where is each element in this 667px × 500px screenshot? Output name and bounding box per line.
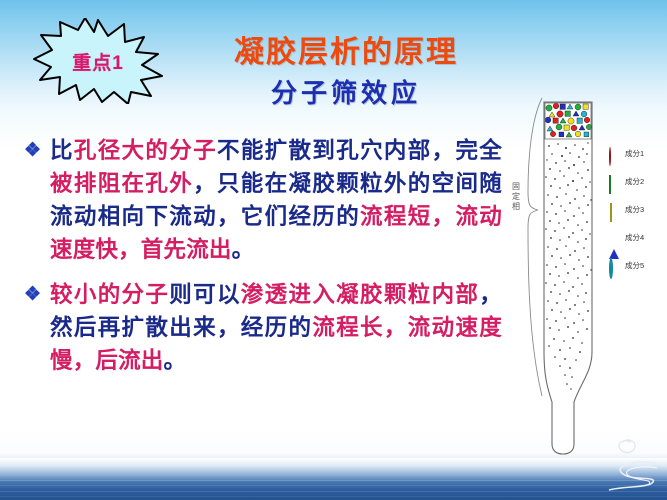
text-run: 渗透进入凝胶颗粒内部: [241, 282, 479, 307]
stationary-phase-label: 固定相: [509, 182, 523, 212]
legend-label: 成分5: [625, 260, 644, 271]
column-diagram: [508, 96, 600, 456]
text-run: 较小的分子: [50, 282, 169, 307]
sample-mixture-band: [545, 103, 592, 139]
legend-label: 成分3: [625, 204, 644, 215]
column-outline: [544, 102, 592, 454]
component-legend: 成分1 成分2 成分3 成分4 成分5: [608, 140, 664, 280]
slide-canvas: 重点1 凝胶层析的原理 分子筛效应 ❖ 比孔径大的分子不能扩散到孔穴内部，完全被…: [0, 0, 667, 500]
text-run: 。: [232, 237, 255, 262]
legend-marker-square-icon: [608, 176, 620, 188]
bullet-diamond-icon: ❖: [24, 279, 41, 310]
paragraph-runs: 比孔径大的分子不能扩散到孔穴内部，完全被排阻在孔外，只能在凝胶颗粒外的空间随流动…: [50, 138, 502, 262]
content-paragraph-1: ❖ 比孔径大的分子不能扩散到孔穴内部，完全被排阻在孔外，只能在凝胶颗粒外的空间随…: [24, 134, 502, 266]
legend-label: 成分4: [625, 232, 644, 243]
text-run: 比: [50, 138, 74, 163]
legend-item: 成分1: [608, 140, 664, 167]
paragraph-runs: 较小的分子则可以渗透进入凝胶颗粒内部，然后再扩散出来，经历的流程长，流动速度慢，…: [50, 282, 502, 373]
legend-item: 成分4: [608, 224, 664, 251]
chromatography-column-figure: 固定相: [508, 96, 600, 456]
text-run: 被排阻在孔外: [50, 171, 193, 196]
legend-marker-diamond-icon: [608, 204, 620, 216]
phase-bracket: [528, 98, 542, 396]
legend-marker-donut-icon: [608, 260, 620, 272]
paragraph-text: ❖ 比孔径大的分子不能扩散到孔穴内部，完全被排阻在孔外，只能在凝胶颗粒外的空间随…: [24, 134, 502, 266]
badge-label: 重点1: [32, 18, 164, 104]
text-run: 孔径大的分子: [74, 138, 217, 163]
water-band-decoration: [0, 458, 667, 500]
text-run: 。: [164, 348, 187, 373]
legend-label: 成分2: [625, 176, 644, 187]
slide-title-main: 凝胶层析的原理: [196, 27, 496, 71]
emphasis-starburst-badge: 重点1: [32, 18, 164, 104]
paragraph-text: ❖ 较小的分子则可以渗透进入凝胶颗粒内部，然后再扩散出来，经历的流程长，流动速度…: [24, 278, 502, 377]
bullet-diamond-icon: ❖: [24, 135, 41, 166]
legend-marker-triangle-icon: [608, 232, 620, 244]
text-run: 则可以: [169, 282, 241, 307]
legend-item: 成分2: [608, 168, 664, 195]
content-paragraph-2: ❖ 较小的分子则可以渗透进入凝胶颗粒内部，然后再扩散出来，经历的流程长，流动速度…: [24, 278, 502, 377]
text-run: 不能扩散到孔穴内部，完全: [217, 138, 502, 163]
legend-marker-circle-icon: [608, 148, 620, 160]
legend-label: 成分1: [625, 148, 644, 159]
legend-item: 成分3: [608, 196, 664, 223]
slide-title-sub: 分子筛效应: [196, 73, 496, 110]
